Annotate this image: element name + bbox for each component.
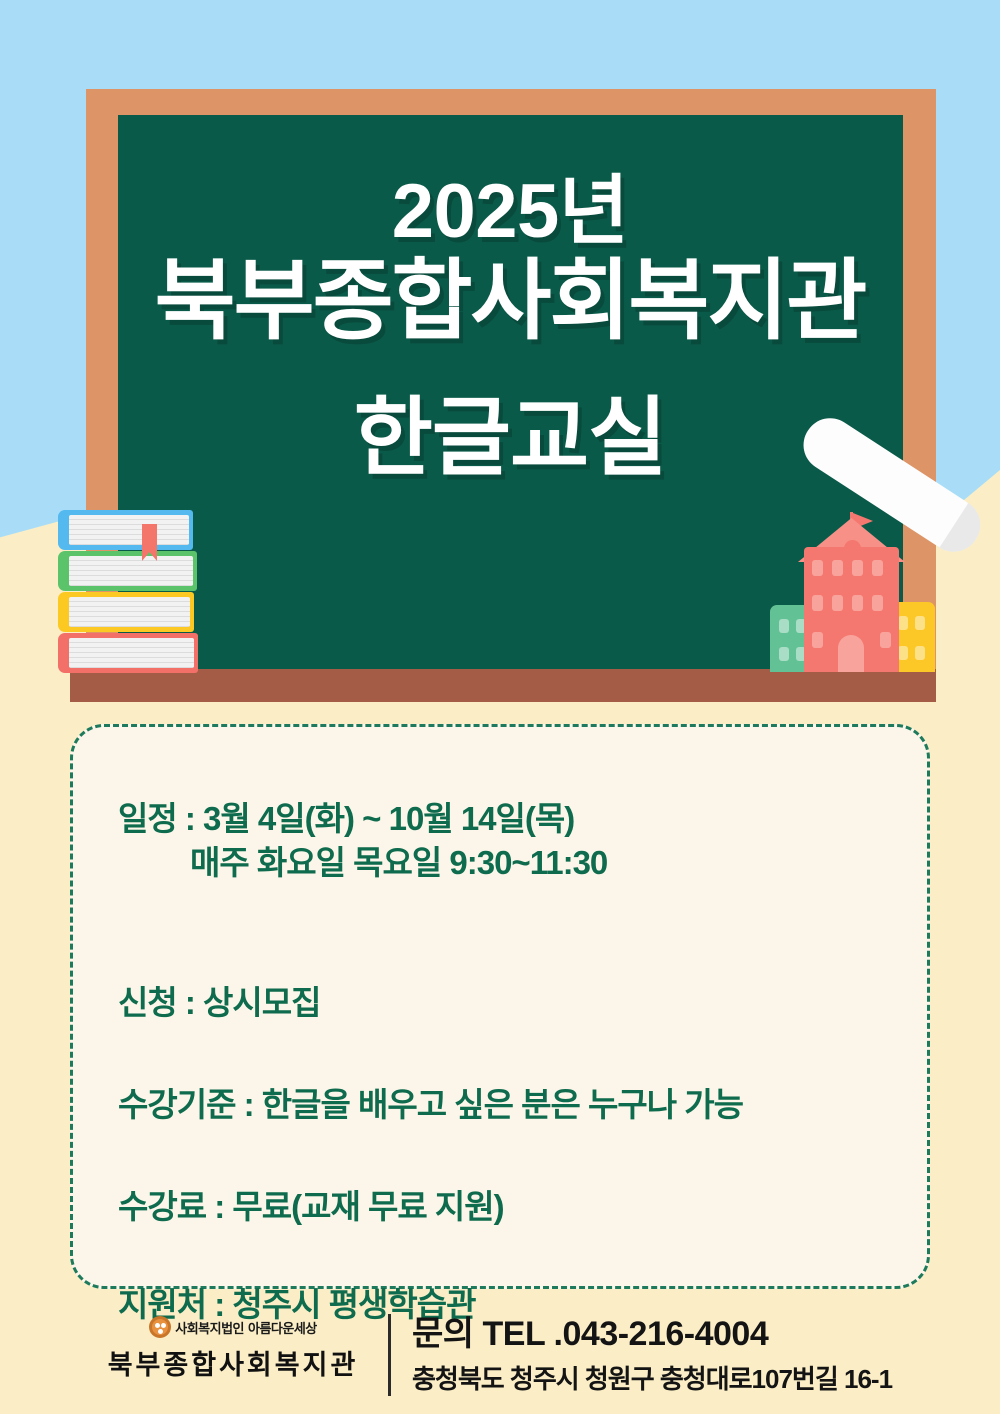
window bbox=[898, 646, 908, 660]
book-pages bbox=[69, 515, 189, 545]
info-row-eligibility: 수강기준 : 한글을 배우고 싶은 분은 누구나 가능 bbox=[118, 1083, 897, 1127]
book-pages bbox=[69, 597, 190, 627]
window bbox=[812, 632, 823, 648]
contact-tel: 문의 TEL .043-216-4004 bbox=[412, 1312, 892, 1356]
window bbox=[812, 595, 823, 611]
window bbox=[852, 595, 863, 611]
footer-divider bbox=[388, 1314, 391, 1396]
foundation-logo-icon bbox=[149, 1316, 171, 1338]
window bbox=[852, 560, 863, 576]
school-door bbox=[838, 635, 864, 672]
info-row-apply: 신청 : 상시모집 bbox=[118, 981, 897, 1025]
yellow-book bbox=[58, 592, 194, 632]
footer: 사회복지법인 아름다운세상 북부종합사회복지관 문의 TEL .043-216-… bbox=[0, 1300, 1000, 1414]
window bbox=[872, 595, 883, 611]
red-book bbox=[58, 633, 198, 673]
window bbox=[872, 560, 883, 576]
window bbox=[880, 632, 891, 648]
poster-root: 2025년 북부종합사회복지관 한글교실 bbox=[0, 0, 1000, 1414]
foundation-name: 아름다운세상 bbox=[248, 1318, 317, 1337]
window bbox=[915, 616, 925, 630]
schedule-detail: 매주 화요일 목요일 9:30~11:30 bbox=[118, 841, 897, 885]
window bbox=[832, 595, 843, 611]
window bbox=[915, 646, 925, 660]
window bbox=[812, 560, 823, 576]
blue-book bbox=[58, 510, 193, 550]
schedule-label: 일정 : 3월 4일(화) ~ 10월 14일(목) bbox=[118, 800, 574, 837]
window bbox=[832, 560, 843, 576]
foundation-prefix: 사회복지법인 bbox=[175, 1318, 244, 1337]
logo-top-row: 사회복지법인 아름다운세상 bbox=[88, 1314, 378, 1340]
center-name: 북부종합사회복지관 bbox=[88, 1343, 378, 1382]
book-stack-icon bbox=[58, 510, 198, 675]
board-title-block: 2025년 북부종합사회복지관 한글교실 bbox=[118, 170, 902, 486]
info-panel: 일정 : 3월 4일(화) ~ 10월 14일(목) 매주 화요일 목요일 9:… bbox=[70, 724, 930, 1289]
school-buildings-icon bbox=[770, 512, 935, 672]
book-pages bbox=[69, 556, 193, 586]
logo-dot bbox=[158, 1329, 163, 1334]
book-pages bbox=[69, 638, 194, 668]
title-organization: 북부종합사회복지관 bbox=[118, 254, 902, 348]
window bbox=[779, 619, 789, 633]
logo-dot bbox=[155, 1323, 160, 1328]
chalkboard-ledge bbox=[70, 669, 936, 702]
info-row-schedule: 일정 : 3월 4일(화) ~ 10월 14일(목) 매주 화요일 목요일 9:… bbox=[118, 753, 897, 929]
green-book bbox=[58, 551, 197, 591]
contact-address: 충청북도 청주시 청원구 충청대로107번길 16-1 bbox=[412, 1362, 892, 1396]
title-year: 2025년 bbox=[118, 170, 902, 254]
window bbox=[898, 616, 908, 630]
title-course: 한글교실 bbox=[118, 390, 902, 486]
contact-block: 문의 TEL .043-216-4004 충청북도 청주시 청원구 충청대로10… bbox=[412, 1312, 892, 1396]
window bbox=[779, 647, 789, 661]
organization-logo-block: 사회복지법인 아름다운세상 북부종합사회복지관 bbox=[88, 1314, 378, 1382]
info-row-fee: 수강료 : 무료(교재 무료 지원) bbox=[118, 1185, 897, 1229]
logo-dot bbox=[161, 1323, 166, 1328]
info-list: 일정 : 3월 4일(화) ~ 10월 14일(목) 매주 화요일 목요일 9:… bbox=[118, 749, 897, 1327]
